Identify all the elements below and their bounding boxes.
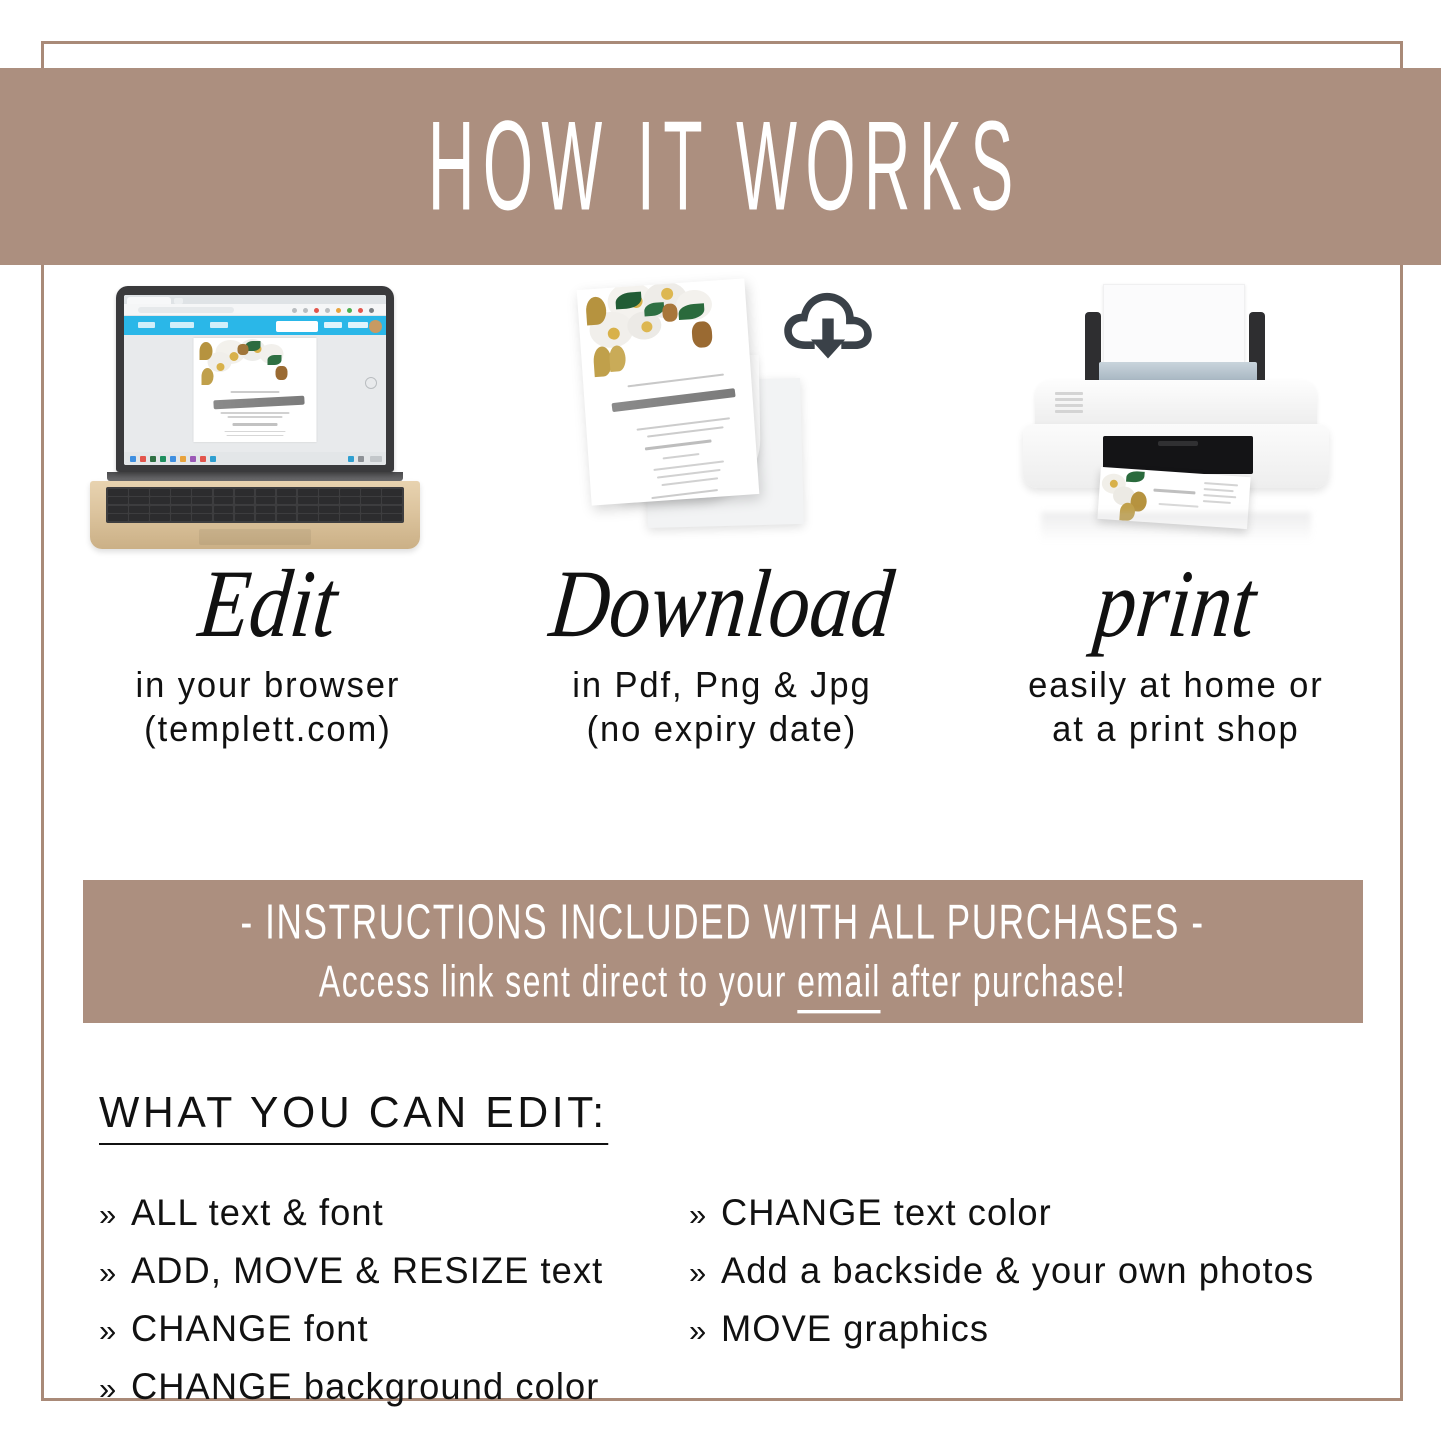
avatar <box>369 320 382 333</box>
invitation-cards <box>572 278 872 558</box>
what-you-can-edit-heading: WHAT YOU CAN EDIT: <box>99 1088 608 1145</box>
invite-kicker <box>627 374 724 388</box>
laptop-icon <box>116 286 420 549</box>
leaf-gold <box>609 345 627 372</box>
cloud-download-icon <box>780 290 876 368</box>
printed-line <box>1159 503 1199 507</box>
leaf <box>1126 471 1145 483</box>
chevron-right-icon: » <box>689 1198 707 1231</box>
step-caption: in your browser (templett.com) <box>136 663 401 751</box>
list-item: » CHANGE font <box>99 1309 689 1349</box>
taskbar-icon[interactable] <box>150 456 156 462</box>
toolbar-download-button[interactable] <box>276 321 318 332</box>
chevron-right-icon: » <box>99 1372 117 1405</box>
taskbar-icon[interactable] <box>170 456 176 462</box>
edit-capability-lists: » ALL text & font » ADD, MOVE & RESIZE t… <box>99 1193 1399 1425</box>
invite-names <box>611 388 735 412</box>
list-item-label: MOVE graphics <box>721 1309 989 1349</box>
laptop-hinge <box>107 472 403 481</box>
browser-tab-bar <box>124 295 386 304</box>
list-item-label: CHANGE text color <box>721 1193 1052 1233</box>
header-banner: HOW IT WORKS <box>0 68 1441 265</box>
browser-profile-icon <box>369 308 374 313</box>
what-you-can-edit-section: WHAT YOU CAN EDIT: » ALL text & font » A… <box>99 1088 1399 1425</box>
browser-ext-icon <box>325 308 330 313</box>
browser-ext-icon <box>292 308 297 313</box>
instructions-headline: - INSTRUCTIONS INCLUDED WITH ALL PURCHAS… <box>241 898 1205 947</box>
laptop-trackpad <box>199 529 311 545</box>
page-title: HOW IT WORKS <box>419 103 1021 230</box>
list-item: » Add a backside & your own photos <box>689 1251 1399 1291</box>
laptop-keyboard <box>106 487 404 523</box>
edit-list-left: » ALL text & font » ADD, MOVE & RESIZE t… <box>99 1193 689 1425</box>
printed-line <box>1203 500 1231 504</box>
list-item: » MOVE graphics <box>689 1309 1399 1349</box>
printed-names <box>1153 489 1195 495</box>
flower-center <box>230 352 239 361</box>
browser-ext-icon <box>336 308 341 313</box>
taskbar-clock <box>370 456 382 462</box>
invite-date <box>645 439 712 450</box>
taskbar-icon[interactable] <box>348 456 354 462</box>
taskbar-icon[interactable] <box>130 456 136 462</box>
printer-icon <box>1011 284 1341 556</box>
printed-line <box>1204 488 1234 492</box>
invite-line <box>224 431 286 432</box>
toolbar-menu-options <box>170 322 194 328</box>
taskbar-icon[interactable] <box>210 456 216 462</box>
toolbar-save <box>348 322 368 328</box>
list-item-label: CHANGE font <box>131 1309 369 1349</box>
step-print: print easily at home or at a print shop <box>949 278 1403 823</box>
chevron-right-icon: » <box>689 1256 707 1289</box>
invitation-card <box>577 278 760 505</box>
step-caption: easily at home or at a print shop <box>1028 663 1323 751</box>
surface-reflection <box>1041 512 1311 542</box>
browser-ext-icon <box>358 308 363 313</box>
printer-illustration <box>949 278 1403 558</box>
browser-address-pill <box>138 307 234 313</box>
toolbar-preview <box>324 322 342 328</box>
pinecone <box>276 366 288 380</box>
invite-line <box>221 412 290 414</box>
taskbar-icon[interactable] <box>190 456 196 462</box>
step-script-label: Edit <box>195 559 341 648</box>
chevron-right-icon: » <box>689 1314 707 1347</box>
laptop-screen <box>124 295 386 465</box>
pinecone <box>238 344 249 355</box>
canvas-zoom-handle[interactable] <box>365 377 377 389</box>
taskbar-icon[interactable] <box>160 456 166 462</box>
laptop-lid <box>116 286 394 472</box>
invite-line <box>661 477 718 486</box>
list-item-label: CHANGE background color <box>131 1367 599 1407</box>
flower-center <box>217 363 225 371</box>
cards-illustration <box>495 278 949 558</box>
email-link[interactable]: email <box>798 957 882 1013</box>
browser-url-bar <box>124 304 386 316</box>
laptop-illustration <box>41 278 495 558</box>
leaf <box>268 355 282 365</box>
step-edit: Edit in your browser (templett.com) <box>41 278 495 823</box>
invite-date <box>233 423 277 426</box>
invite-line <box>228 416 282 418</box>
leaf-gold <box>200 342 213 360</box>
toolbar-menu-file <box>138 322 155 328</box>
list-item-label: Add a backside & your own photos <box>721 1251 1314 1291</box>
list-item: » ALL text & font <box>99 1193 689 1233</box>
invite-names <box>213 396 304 410</box>
steps-row: Edit in your browser (templett.com) <box>41 278 1403 823</box>
printed-line <box>1203 494 1236 498</box>
toolbar-menu-undo <box>210 322 228 328</box>
list-item: » CHANGE background color <box>99 1367 689 1407</box>
taskbar-icon[interactable] <box>180 456 186 462</box>
taskbar-icon[interactable] <box>358 456 364 462</box>
laptop-base <box>90 481 420 549</box>
chevron-right-icon: » <box>99 1198 117 1231</box>
step-caption: in Pdf, Png & Jpg (no expiry date) <box>572 663 871 751</box>
invite-line <box>662 453 699 459</box>
step-download: Download in Pdf, Png & Jpg (no expiry da… <box>495 278 949 823</box>
browser-ext-icon <box>347 308 352 313</box>
chevron-right-icon: » <box>99 1256 117 1289</box>
browser-ext-icon <box>303 308 308 313</box>
instructions-subline: Access link sent direct to your email af… <box>319 960 1126 1005</box>
list-item: » ADD, MOVE & RESIZE text <box>99 1251 689 1291</box>
browser-tab <box>127 297 171 305</box>
invitation-preview <box>194 338 317 442</box>
printer-control-panel <box>1055 392 1083 414</box>
invite-line <box>230 391 279 393</box>
instructions-subline-after: after purchase! <box>881 957 1126 1006</box>
pinecone <box>691 321 713 348</box>
os-taskbar <box>124 452 386 465</box>
pinecone <box>662 303 678 322</box>
browser-ext-icon <box>314 308 319 313</box>
instructions-subline-before: Access link sent direct to your <box>319 957 797 1006</box>
edit-list-right: » CHANGE text color » Add a backside & y… <box>689 1193 1399 1425</box>
list-item: » CHANGE text color <box>689 1193 1399 1233</box>
editor-toolbar <box>124 316 386 336</box>
list-item-label: ADD, MOVE & RESIZE text <box>131 1251 603 1291</box>
taskbar-icon[interactable] <box>140 456 146 462</box>
printed-line <box>1204 482 1238 486</box>
step-script-label: print <box>1092 559 1261 648</box>
list-item-label: ALL text & font <box>131 1193 384 1233</box>
instructions-banner: - INSTRUCTIONS INCLUDED WITH ALL PURCHAS… <box>83 880 1363 1023</box>
taskbar-icon[interactable] <box>200 456 206 462</box>
printer-slot-notch <box>1158 441 1198 446</box>
step-script-label: Download <box>546 559 897 648</box>
chevron-right-icon: » <box>99 1314 117 1347</box>
invite-line <box>227 435 284 436</box>
editor-canvas <box>124 335 386 452</box>
leaf-gold <box>202 368 214 385</box>
invite-line <box>657 469 721 478</box>
